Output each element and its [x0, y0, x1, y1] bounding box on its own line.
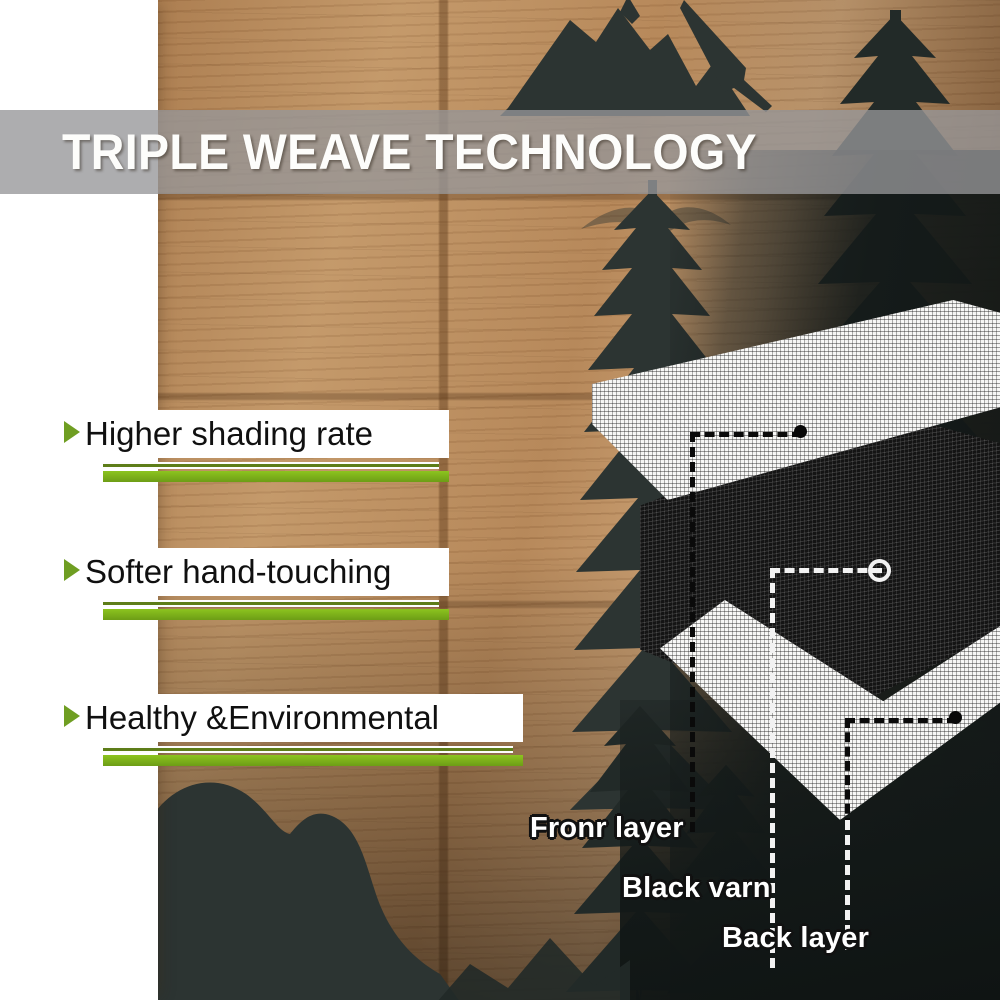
product-feature-image: TRIPLE WEAVE TECHNOLOGY Higher shading r… [0, 0, 1000, 1000]
feature-underline [103, 462, 449, 482]
feature-label: Healthy &Environmental [81, 694, 523, 742]
feature-item-2: Softer hand-touching [64, 548, 449, 620]
layer-label-front: Fronr layer [530, 812, 684, 845]
leader-line-yarn-horizontal [770, 568, 882, 573]
feature-item-1: Higher shading rate [64, 410, 449, 482]
green-triangle-icon [64, 559, 80, 581]
leader-line-back-horizontal [845, 718, 957, 723]
layer-label-back: Back layer [722, 922, 869, 955]
title-banner: TRIPLE WEAVE TECHNOLOGY [0, 110, 1000, 194]
leader-dot-back [949, 711, 962, 724]
leader-dot-front [794, 425, 807, 438]
feature-label: Higher shading rate [81, 410, 449, 458]
feature-underline [103, 600, 449, 620]
layer-label-yarn: Black varn [622, 872, 771, 905]
leader-line-front-horizontal [690, 432, 802, 437]
green-triangle-icon [64, 705, 80, 727]
green-triangle-icon [64, 421, 80, 443]
leader-line-front-vertical [690, 432, 695, 832]
feature-underline [103, 746, 523, 766]
feature-item-3: Healthy &Environmental [64, 694, 523, 766]
page-title: TRIPLE WEAVE TECHNOLOGY [62, 127, 757, 177]
leader-line-yarn-vertical [770, 568, 775, 968]
leader-ring-yarn [868, 559, 891, 582]
leader-line-back-vertical [845, 718, 850, 828]
feature-label: Softer hand-touching [81, 548, 449, 596]
